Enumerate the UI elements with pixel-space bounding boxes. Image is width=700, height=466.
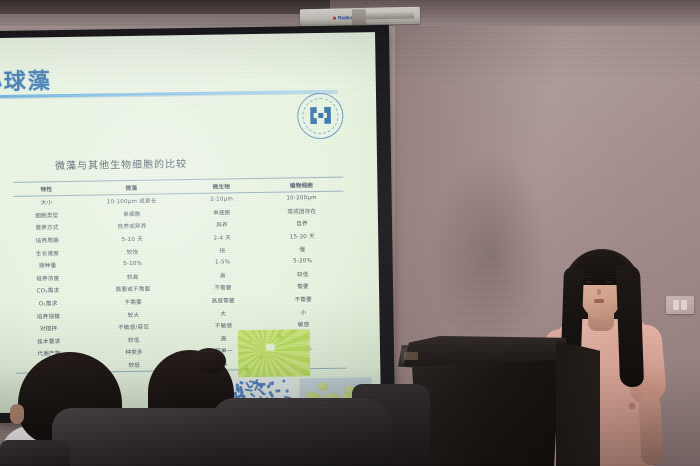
table-cell: 5-10% xyxy=(81,260,185,268)
table-cell: 异养 xyxy=(184,220,260,229)
university-emblem xyxy=(297,93,344,140)
emblem-center-glyph xyxy=(318,113,323,118)
table-cell: 10-100μm 或更长 xyxy=(80,196,184,206)
table-cell: 不需要 xyxy=(81,297,185,307)
table-cell: 慢 xyxy=(260,244,344,253)
audience-woman-hair-bun xyxy=(192,348,226,374)
table-cell: 不需要 xyxy=(185,283,261,292)
table-cell: 不敏感/容忍 xyxy=(82,322,186,332)
bacteria-rod xyxy=(271,381,274,385)
presenter-brow-left xyxy=(585,276,593,278)
table-cell: 对搅拌 xyxy=(16,324,82,333)
lecture-room-photo: Redleaf 小球藻 微藻与其他生物细胞的比较 xyxy=(0,0,700,466)
table-cell: 高 xyxy=(185,271,261,280)
slide-title: 小球藻 xyxy=(0,63,52,96)
table-cell: 1-5% xyxy=(185,259,261,266)
header-cell-2: 微生物 xyxy=(183,181,259,190)
emblem-left-glyph xyxy=(310,107,317,124)
table-cell: 较高 xyxy=(81,272,185,282)
header-cell-1: 微藻 xyxy=(79,183,183,193)
table-cell: 高度需要 xyxy=(185,296,261,305)
table-cell: 生长速度 xyxy=(14,248,80,257)
table-cell: 较大 xyxy=(81,310,185,320)
table-cell: 15-30 天 xyxy=(260,232,344,241)
presenter-arm-right xyxy=(638,394,664,465)
emblem-mark-icon xyxy=(308,105,332,126)
presenter-mouth xyxy=(594,299,604,303)
brand-dot-icon xyxy=(333,17,336,20)
table-cell: 接种量 xyxy=(15,261,81,270)
roller-rod xyxy=(366,12,414,19)
emblem-right-glyph xyxy=(324,107,331,124)
presenter-hair-right xyxy=(616,265,644,388)
table-cell: CO₂需求 xyxy=(15,286,81,295)
audience-chair-front xyxy=(52,408,252,466)
table-cell: 小 xyxy=(261,307,345,316)
table-cell: 细胞类型 xyxy=(14,211,80,220)
table-cell: 较快 xyxy=(80,247,184,257)
audience-man-ear xyxy=(10,404,24,424)
table-cell: 5-10 天 xyxy=(80,234,184,244)
table-cell: 2-4 天 xyxy=(184,233,260,242)
table-cell: 快 xyxy=(184,246,260,255)
table-cell: 10-200μm xyxy=(260,195,344,202)
plant-cell xyxy=(318,381,329,390)
table-cell: 技术要求 xyxy=(16,337,82,346)
switch-rocker-2[interactable] xyxy=(681,300,687,310)
bacteria-rod xyxy=(276,389,281,392)
table-cell: O₂需求 xyxy=(15,299,81,308)
table-cell: 自养 xyxy=(260,219,344,228)
table-cell: 单细胞 xyxy=(184,208,260,217)
header-cell-3: 植物细胞 xyxy=(259,180,343,189)
audience-chair-left xyxy=(0,440,70,466)
table-cell: 培养浓度 xyxy=(15,274,81,283)
header-cell-0: 特性 xyxy=(13,184,79,193)
ceiling-beam xyxy=(0,0,330,14)
table-cell: 自养或异养 xyxy=(80,222,184,232)
podium-edge-highlight xyxy=(404,352,418,360)
bacteria-rod xyxy=(286,389,289,392)
table-cell: 大 xyxy=(185,309,261,318)
table-cell: 培养规模 xyxy=(15,311,81,320)
table-cell: 敏感 xyxy=(262,320,346,329)
slide-subtitle: 微藻与其他生物细胞的比较 xyxy=(55,155,187,172)
podium-body xyxy=(412,360,560,466)
table-cell: 常成团存在 xyxy=(260,207,344,216)
table-cell: 不敏感 xyxy=(186,321,262,330)
table-cell: 不需要 xyxy=(261,295,345,304)
table-cell: 单细胞 xyxy=(80,209,184,219)
table-cell: 较低 xyxy=(82,335,186,345)
table-cell: 培养周期 xyxy=(14,236,80,245)
presenter-brow-right xyxy=(605,276,613,278)
table-cell: 较低 xyxy=(261,269,345,278)
table-cell: 2-10μm xyxy=(184,196,260,203)
table-cell: 营养方式 xyxy=(14,223,80,232)
presenter-nose xyxy=(597,289,601,295)
table-cell: 需要 xyxy=(261,282,345,291)
table-cell: 大小 xyxy=(14,198,80,207)
table-cell: 5-20% xyxy=(261,258,345,265)
table-cell: 需要或不需要 xyxy=(81,285,185,295)
podium-side-panel xyxy=(556,338,600,466)
bacteria-rod xyxy=(283,380,286,383)
